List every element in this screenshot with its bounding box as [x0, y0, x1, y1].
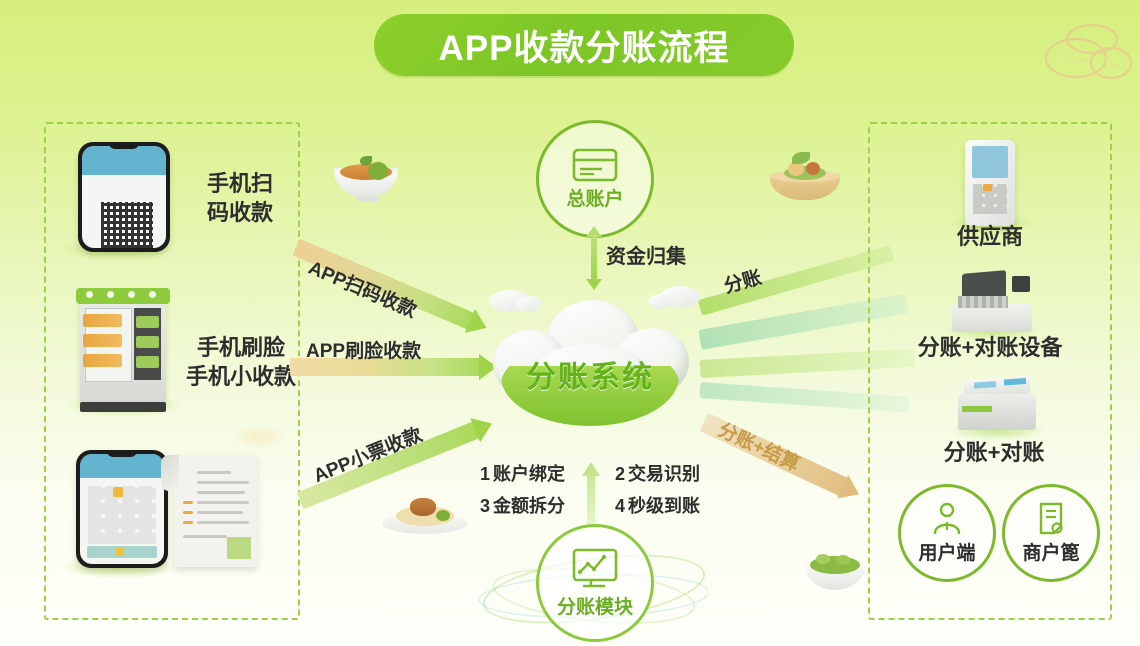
register-keys — [958, 296, 1008, 308]
page-title: APP收款分账流程 — [374, 14, 794, 76]
phone-statusbar — [82, 146, 166, 175]
left-item-label-scan: 手机扫 码收款 — [170, 170, 310, 227]
pos-terminal-icon — [965, 140, 1015, 226]
document-icon — [1036, 502, 1066, 536]
right-item-label-supplier: 供应商 — [908, 222, 1072, 251]
step-item-1: 1账户绑定 — [480, 460, 586, 486]
step-item-3: 3金额拆分 — [480, 492, 586, 518]
fund-gather-label: 资金归集 — [606, 244, 686, 271]
steps-up-arrow-icon — [582, 462, 600, 524]
steamer-basket-icon — [768, 152, 842, 204]
step-item-2: 2交易识别 — [594, 460, 700, 486]
register-printer — [1012, 276, 1030, 292]
node-split-system[interactable]: 分账系统 — [487, 300, 693, 428]
node-user-side-label: 用户端 — [918, 538, 975, 565]
double-arrow-vertical-icon — [586, 226, 602, 290]
node-split-module[interactable]: 分账模块 — [536, 524, 654, 642]
vending-base — [80, 402, 166, 412]
flow-label-face: APP刷脸收款 — [306, 336, 421, 363]
phone-notch — [108, 142, 139, 149]
monitor-chart-icon — [571, 548, 619, 590]
phone-qr-icon — [78, 142, 170, 252]
node-main-account[interactable]: 总账户 — [536, 120, 654, 238]
phone-notch-2 — [106, 450, 137, 457]
right-item-label-device: 分账+对账设备 — [898, 333, 1082, 362]
vending-machine-icon — [80, 300, 166, 404]
right-item-label-reconcile: 分账+对账 — [910, 438, 1078, 467]
step-item-4: 4秒级到账 — [594, 492, 700, 518]
food-bowl-icon — [330, 150, 402, 204]
credit-card-icon — [572, 148, 618, 182]
node-user-side[interactable]: 用户端 — [898, 484, 996, 582]
receipt-icon — [175, 455, 257, 567]
node-split-module-label: 分账模块 — [557, 592, 633, 619]
pasta-plate-icon — [382, 492, 468, 542]
node-split-system-label: 分账系统 — [487, 352, 693, 396]
printer-strip — [962, 406, 992, 412]
page-title-text: APP收款分账流程 — [439, 20, 730, 71]
phone-statusbar-2 — [80, 454, 164, 478]
printer-body — [958, 394, 1036, 430]
phone-pay-dot — [116, 548, 124, 556]
node-main-account-label: 总账户 — [566, 184, 623, 211]
node-merchant-side-label: 商户篦 — [1022, 538, 1079, 565]
pos-screen — [972, 146, 1008, 178]
flow-label-split-settle: 分账+结算 — [714, 415, 804, 476]
printer-icon — [958, 378, 1036, 430]
phone-screen-2 — [80, 454, 164, 564]
buns-outline-icon — [1040, 18, 1132, 84]
receipt-stamp — [227, 537, 251, 559]
receipt-curl — [161, 455, 179, 491]
vending-lights — [86, 291, 156, 298]
phone-key-highlight — [113, 487, 123, 497]
cash-register-icon — [952, 272, 1032, 332]
infographic-canvas: APP收款分账流程 手机扫 码收款 — [0, 0, 1140, 646]
phone-screen — [82, 146, 166, 248]
faint-cloud-decoration — [230, 425, 288, 449]
register-base — [952, 304, 1032, 332]
pos-button — [983, 184, 992, 191]
qr-code-icon — [101, 202, 153, 248]
node-merchant-side[interactable]: 商户篦 — [1002, 484, 1100, 582]
phone-receipt-icon — [76, 450, 168, 568]
green-bowl-icon — [802, 546, 868, 594]
user-icon — [931, 502, 963, 536]
